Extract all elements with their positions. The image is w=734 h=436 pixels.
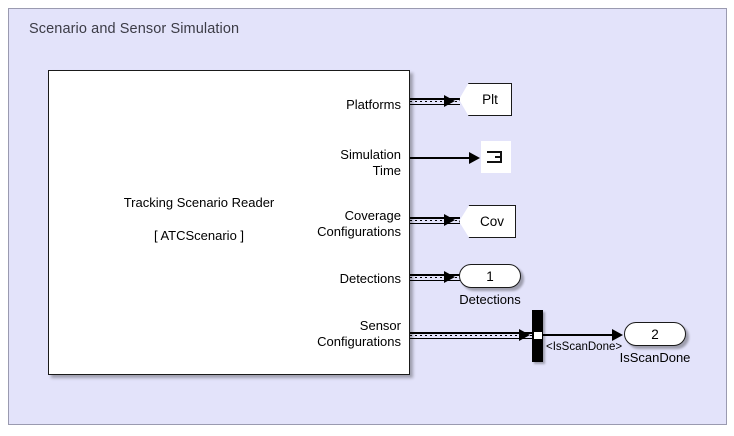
port-label-simulation-time: Simulation Time [340, 147, 401, 179]
arrowhead-simulation-time [469, 152, 480, 164]
wire-is-scan-done [543, 334, 618, 336]
arrowhead-sensor-configurations [519, 329, 530, 341]
port-label-detections: Detections [340, 271, 401, 287]
outport-isscandone-label: IsScanDone [594, 350, 716, 365]
port-label-platforms: Platforms [346, 97, 401, 113]
port-label-sensor-configurations: Sensor Configurations [317, 318, 401, 350]
arrowhead-coverage-configurations [444, 214, 455, 226]
outport-isscandone-number: 2 [651, 327, 659, 342]
wire-simulation-time [410, 157, 475, 159]
goto-tag-plt[interactable]: Plt [459, 83, 512, 116]
terminator-icon-mid [495, 156, 502, 158]
diagram-canvas: Scenario and Sensor Simulation Tracking … [0, 0, 734, 436]
goto-tag-cov[interactable]: Cov [459, 205, 516, 238]
reader-block-name: Tracking Scenario Reader [49, 195, 349, 210]
outport-detections-number: 1 [486, 269, 494, 284]
subsystem-title: Scenario and Sensor Simulation [29, 21, 239, 37]
arrowhead-is-scan-done [612, 329, 623, 341]
outport-detections-label: Detections [429, 292, 551, 307]
terminator-block[interactable] [481, 141, 511, 173]
bus-selector-icon [534, 332, 542, 339]
goto-tag-cov-label: Cov [480, 214, 504, 229]
bus-selector-block[interactable] [532, 310, 543, 362]
outport-isscandone[interactable]: 2 [624, 322, 686, 346]
tracking-scenario-reader-block[interactable]: Tracking Scenario Reader [ ATCScenario ]… [48, 70, 410, 375]
port-label-coverage-configurations: Coverage Configurations [317, 208, 401, 240]
reader-block-parameter: [ ATCScenario ] [49, 228, 349, 243]
outport-detections[interactable]: 1 [459, 264, 521, 288]
wire-sensor-configurations [410, 332, 532, 339]
arrowhead-platforms [444, 95, 455, 107]
goto-tag-plt-label: Plt [482, 92, 498, 107]
arrowhead-detections [444, 271, 455, 283]
